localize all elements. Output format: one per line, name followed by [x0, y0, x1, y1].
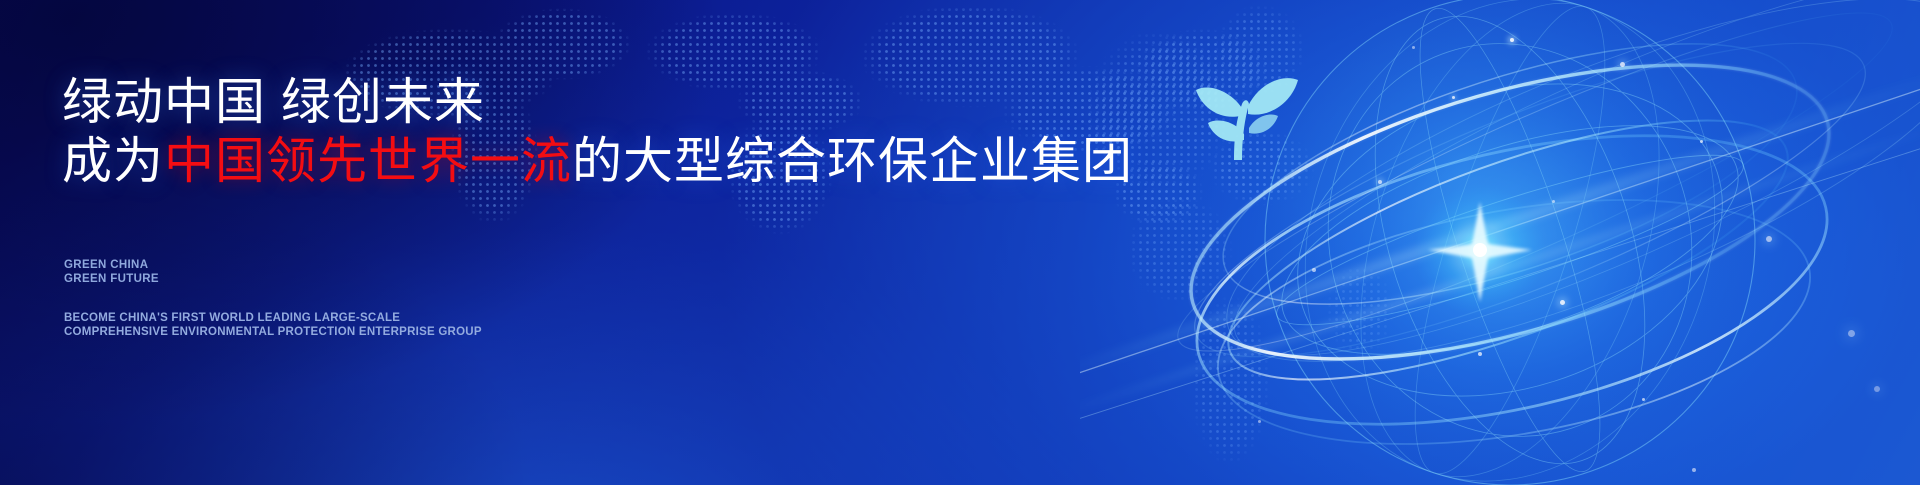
hero-banner: 绿动中国 绿创未来 成为中国领先世界一流的大型综合环保企业集团 GREEN CH…: [0, 0, 1920, 485]
headline-secondary: 成为中国领先世界一流的大型综合环保企业集团: [62, 136, 1133, 186]
headline-secondary-suffix: 的大型综合环保企业集团: [572, 133, 1133, 189]
star-burst-icon: [1414, 184, 1546, 316]
headline-secondary-prefix: 成为: [62, 133, 164, 189]
headline-secondary-highlight: 中国领先世界一流: [164, 133, 572, 189]
tagline-english: BECOME CHINA'S FIRST WORLD LEADING LARGE…: [64, 312, 482, 339]
wireframe-globe-icon: [1080, 0, 1920, 485]
headline-primary: 绿动中国 绿创未来: [62, 77, 485, 127]
slogan-english: GREEN CHINA GREEN FUTURE: [64, 259, 159, 286]
